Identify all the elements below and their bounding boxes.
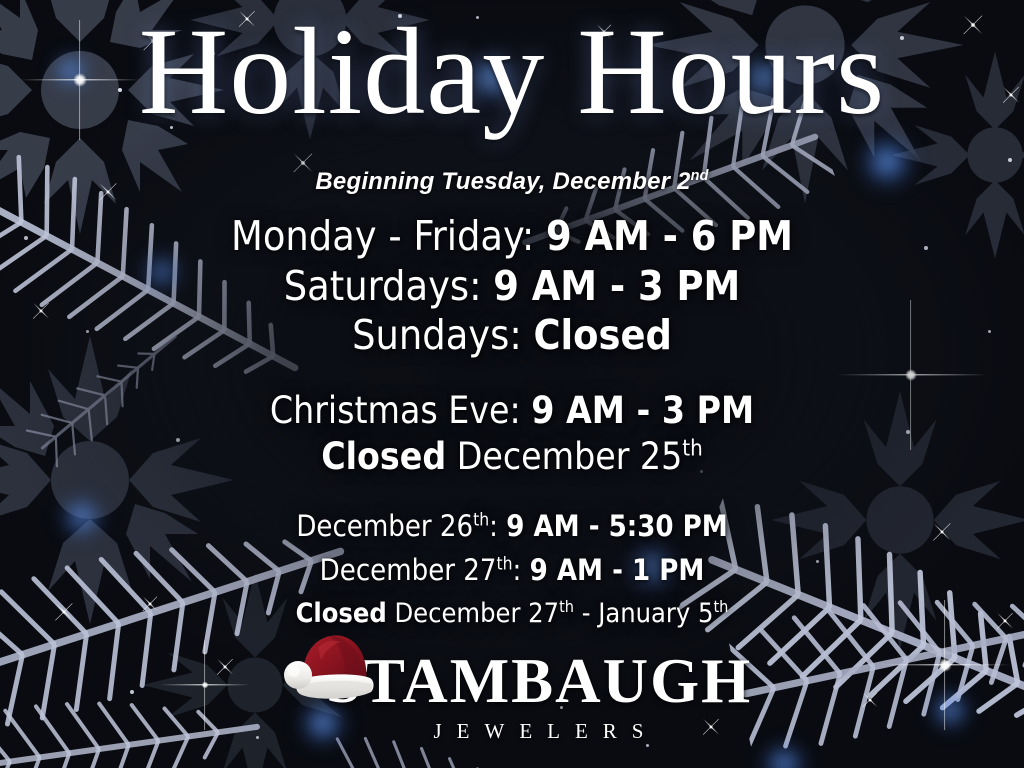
hours-day-label: Sundays:: [352, 311, 533, 359]
after-christmas-row: December 27th: 9 AM - 1 PM: [0, 548, 1024, 592]
brand-tagline: JEWELERS: [272, 719, 752, 744]
logo-inner: STAMBAUGH JEWELERS: [272, 650, 752, 744]
subtitle-ordinal: nd: [691, 168, 709, 184]
christmas-eve-row: Christmas Eve: 9 AM - 3 PM: [0, 388, 1024, 435]
hours-row: Sundays: Closed: [0, 311, 1024, 361]
after-date-ordinal: th: [473, 510, 489, 530]
after-date-label: December 27: [320, 553, 497, 587]
closure-end-ordinal: th: [713, 597, 728, 616]
subtitle: Beginning Tuesday, December 2nd: [0, 168, 1024, 196]
hours-day-label: Saturdays:: [284, 262, 494, 310]
closure-start-ordinal: th: [559, 597, 574, 616]
christmas-hours-group: Christmas Eve: 9 AM - 3 PM Closed Decemb…: [0, 388, 1024, 481]
holiday-hours-poster: Holiday Hours Beginning Tuesday, Decembe…: [0, 0, 1024, 768]
hours-row: Monday - Friday: 9 AM - 6 PM: [0, 212, 1024, 262]
christmas-day-ordinal: th: [682, 436, 702, 462]
santa-hat-icon: [278, 628, 382, 706]
weekly-hours-group: Monday - Friday: 9 AM - 6 PM Saturdays: …: [0, 212, 1024, 361]
after-date-ordinal: th: [496, 555, 512, 575]
page-title: Holiday Hours: [0, 10, 1024, 134]
hours-block: Monday - Friday: 9 AM - 6 PM Saturdays: …: [0, 212, 1024, 634]
after-separator: :: [513, 553, 530, 587]
christmas-eve-label: Christmas Eve:: [270, 389, 531, 432]
hours-row: Saturdays: 9 AM - 3 PM: [0, 262, 1024, 312]
subtitle-text: Beginning Tuesday, December 2: [315, 168, 690, 195]
hours-day-label: Monday - Friday:: [231, 212, 546, 260]
after-time-value: 9 AM - 5:30 PM: [506, 509, 727, 543]
hours-time-value: 9 AM - 6 PM: [546, 212, 793, 260]
hours-time-value: 9 AM - 3 PM: [493, 262, 740, 310]
poster-content: Holiday Hours Beginning Tuesday, Decembe…: [0, 0, 1024, 768]
closure-closed-label: Closed: [296, 598, 387, 629]
after-christmas-row: December 26th: 9 AM - 5:30 PM: [0, 504, 1024, 548]
closure-start-date: December 27: [387, 598, 559, 629]
after-time-value: 9 AM - 1 PM: [530, 553, 705, 587]
hours-time-value: Closed: [533, 311, 671, 359]
christmas-eve-value: 9 AM - 3 PM: [531, 389, 754, 432]
after-separator: :: [489, 509, 506, 543]
after-date-label: December 26: [296, 509, 473, 543]
closure-end-date: - January 5: [574, 598, 713, 629]
christmas-day-closed: Closed: [321, 435, 446, 478]
christmas-day-row: Closed December 25th: [0, 434, 1024, 481]
company-logo: STAMBAUGH JEWELERS: [0, 650, 1024, 768]
after-christmas-group: December 26th: 9 AM - 5:30 PM December 2…: [0, 504, 1024, 634]
closure-row: Closed December 27th - January 5th: [0, 593, 1024, 634]
christmas-day-label: December 25: [446, 435, 682, 478]
